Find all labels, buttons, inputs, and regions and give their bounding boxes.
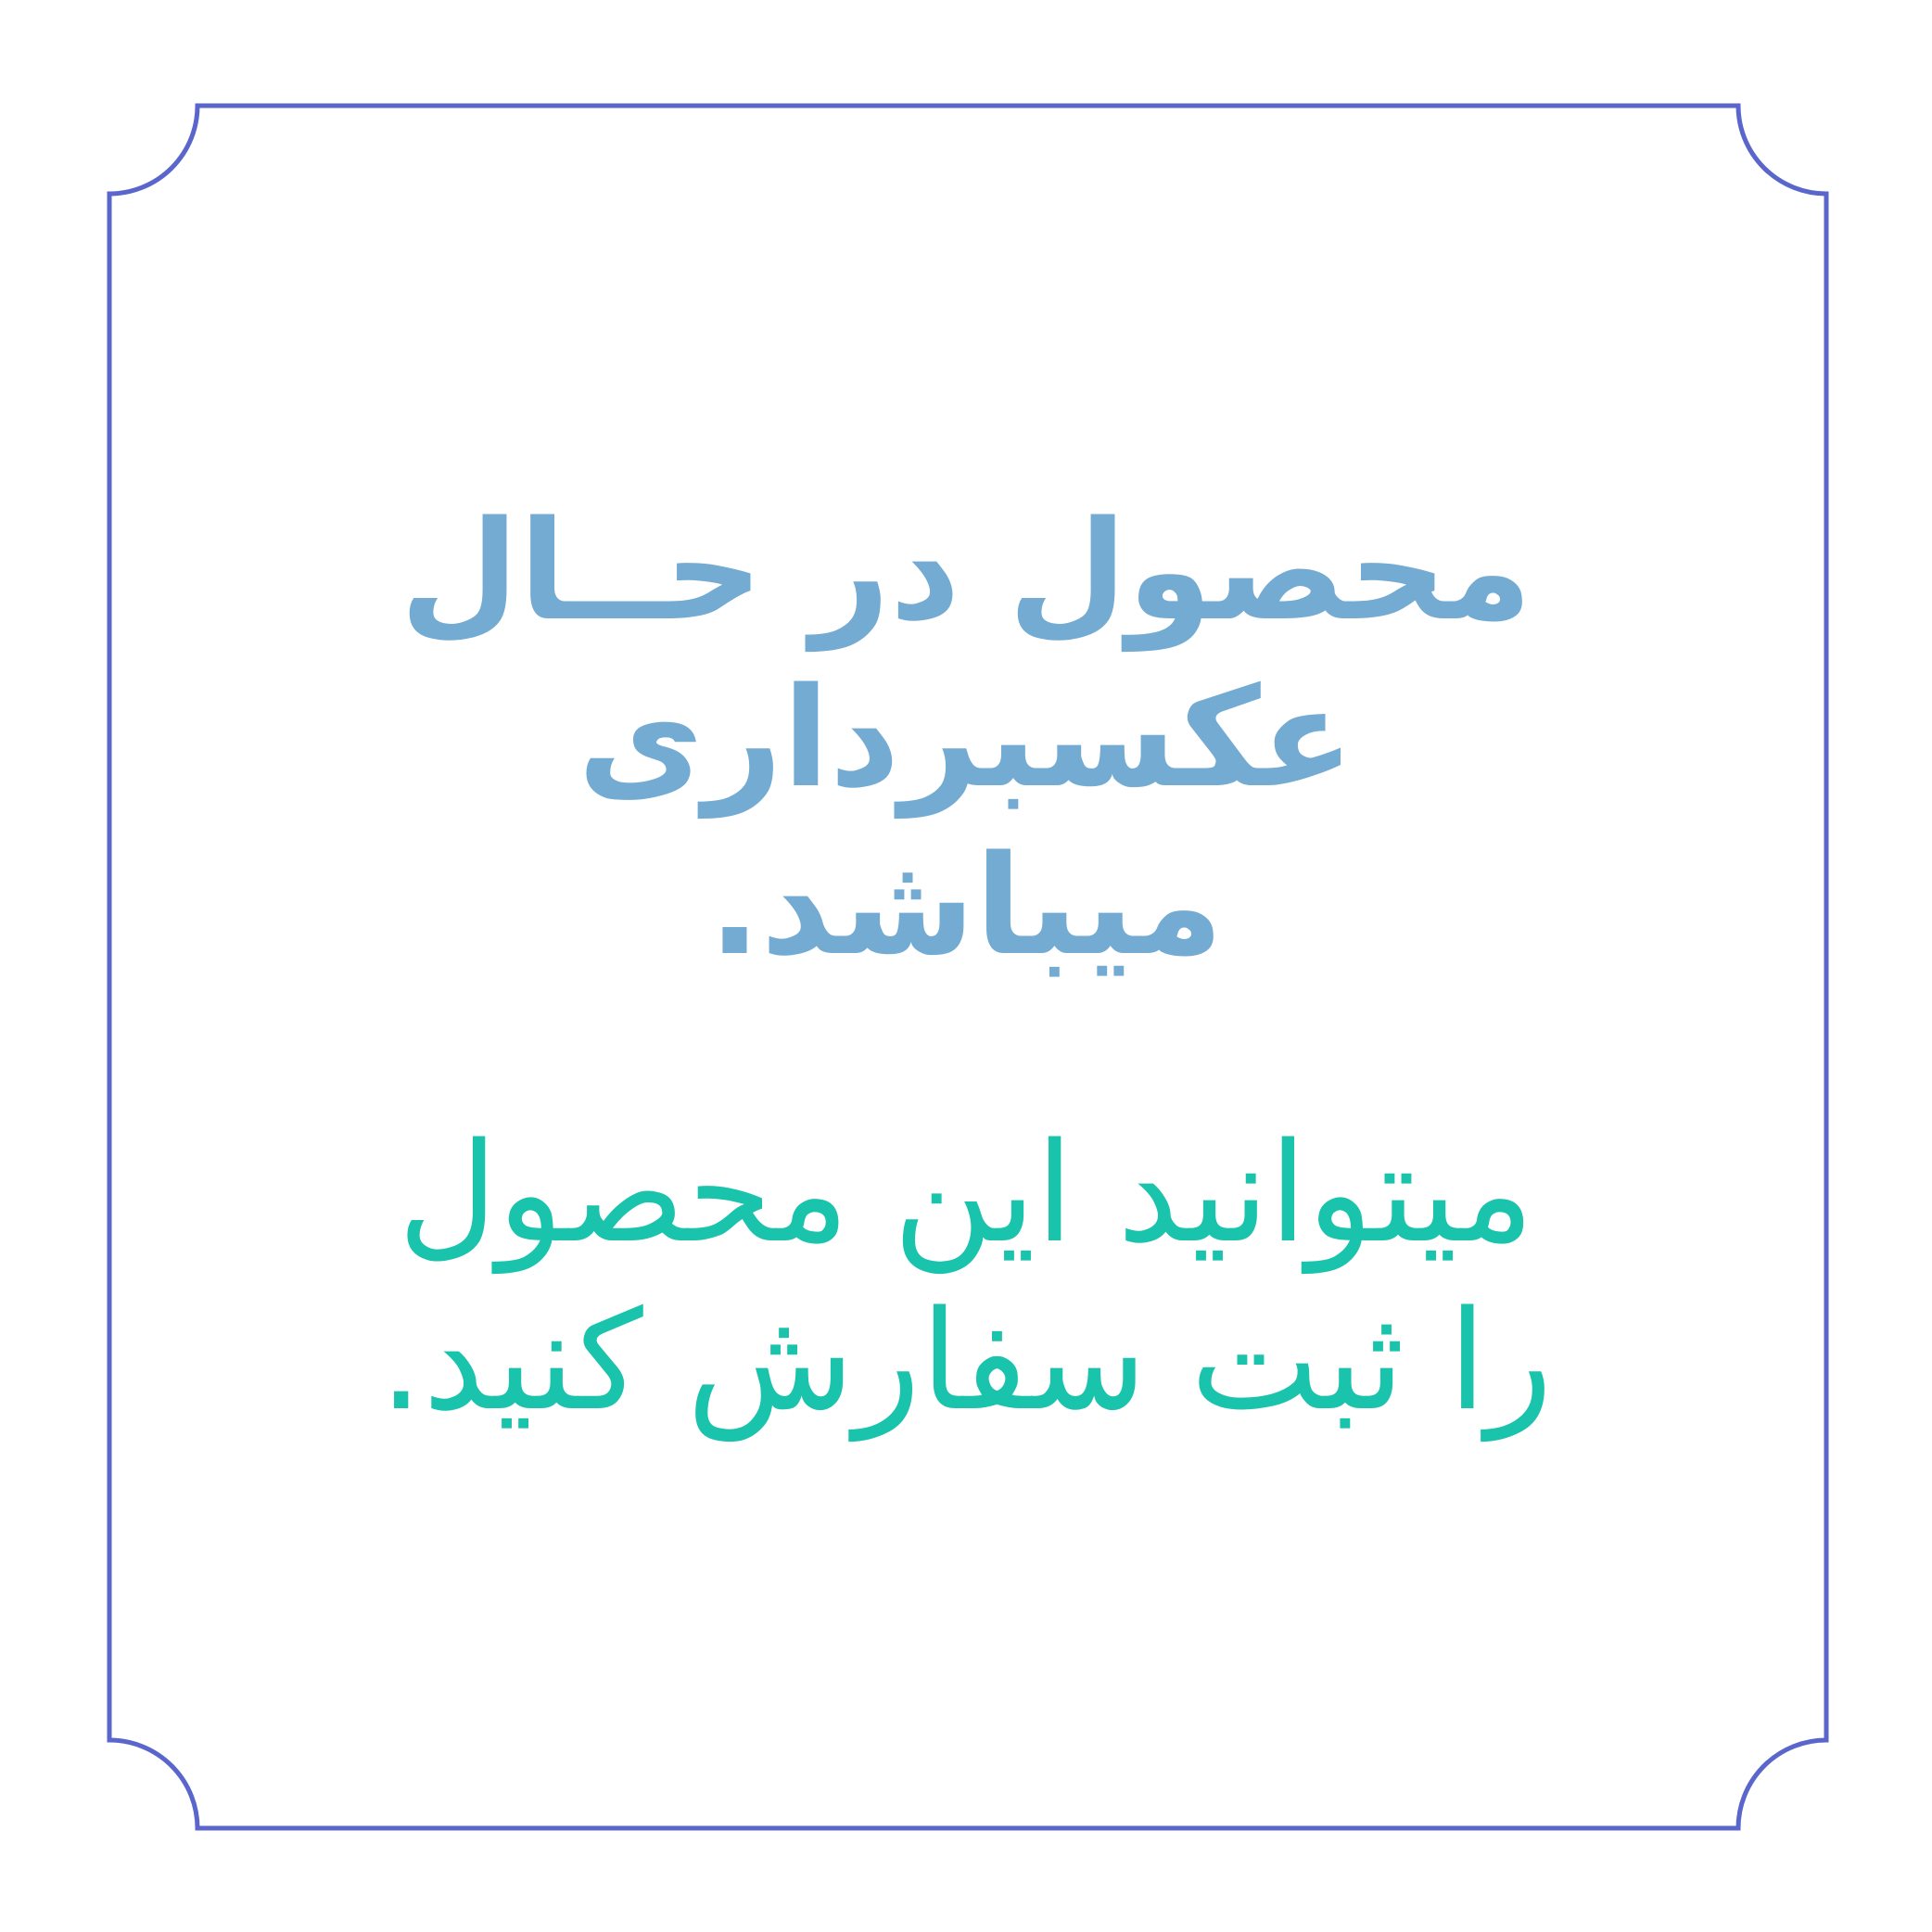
secondary-message-line-2: را ثبت سفارش کنید.	[308, 1277, 1624, 1445]
secondary-message-line-1: میتوانید این محصول	[308, 1110, 1624, 1277]
primary-message-line-2: عکسبرداری میباشد.	[308, 655, 1624, 989]
primary-message: محصول در حــال عکسبرداری میباشد.	[308, 488, 1624, 990]
message-stack: محصول در حــال عکسبرداری میباشد. میتوانی…	[0, 0, 1932, 1932]
primary-message-line-1: محصول در حــال	[308, 488, 1624, 655]
secondary-message: میتوانید این محصول را ثبت سفارش کنید.	[308, 1110, 1624, 1444]
placeholder-card: محصول در حــال عکسبرداری میباشد. میتوانی…	[0, 0, 1932, 1932]
